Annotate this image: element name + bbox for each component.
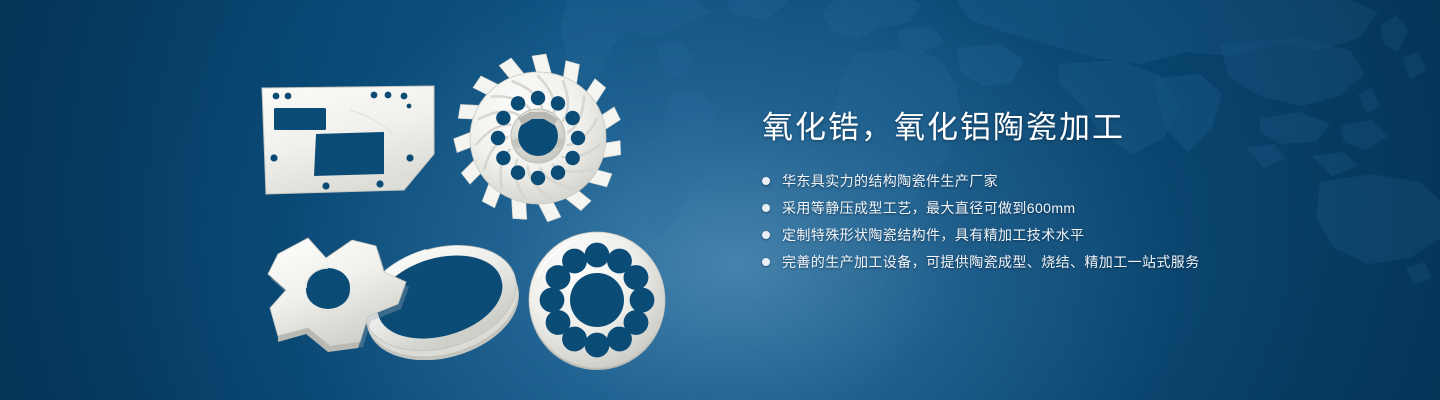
- promo-banner: 氧化锆，氧化铝陶瓷加工 华东具实力的结构陶瓷件生产厂家 采用等静压成型工艺，最大…: [0, 0, 1440, 400]
- background-vignette: [0, 0, 1440, 400]
